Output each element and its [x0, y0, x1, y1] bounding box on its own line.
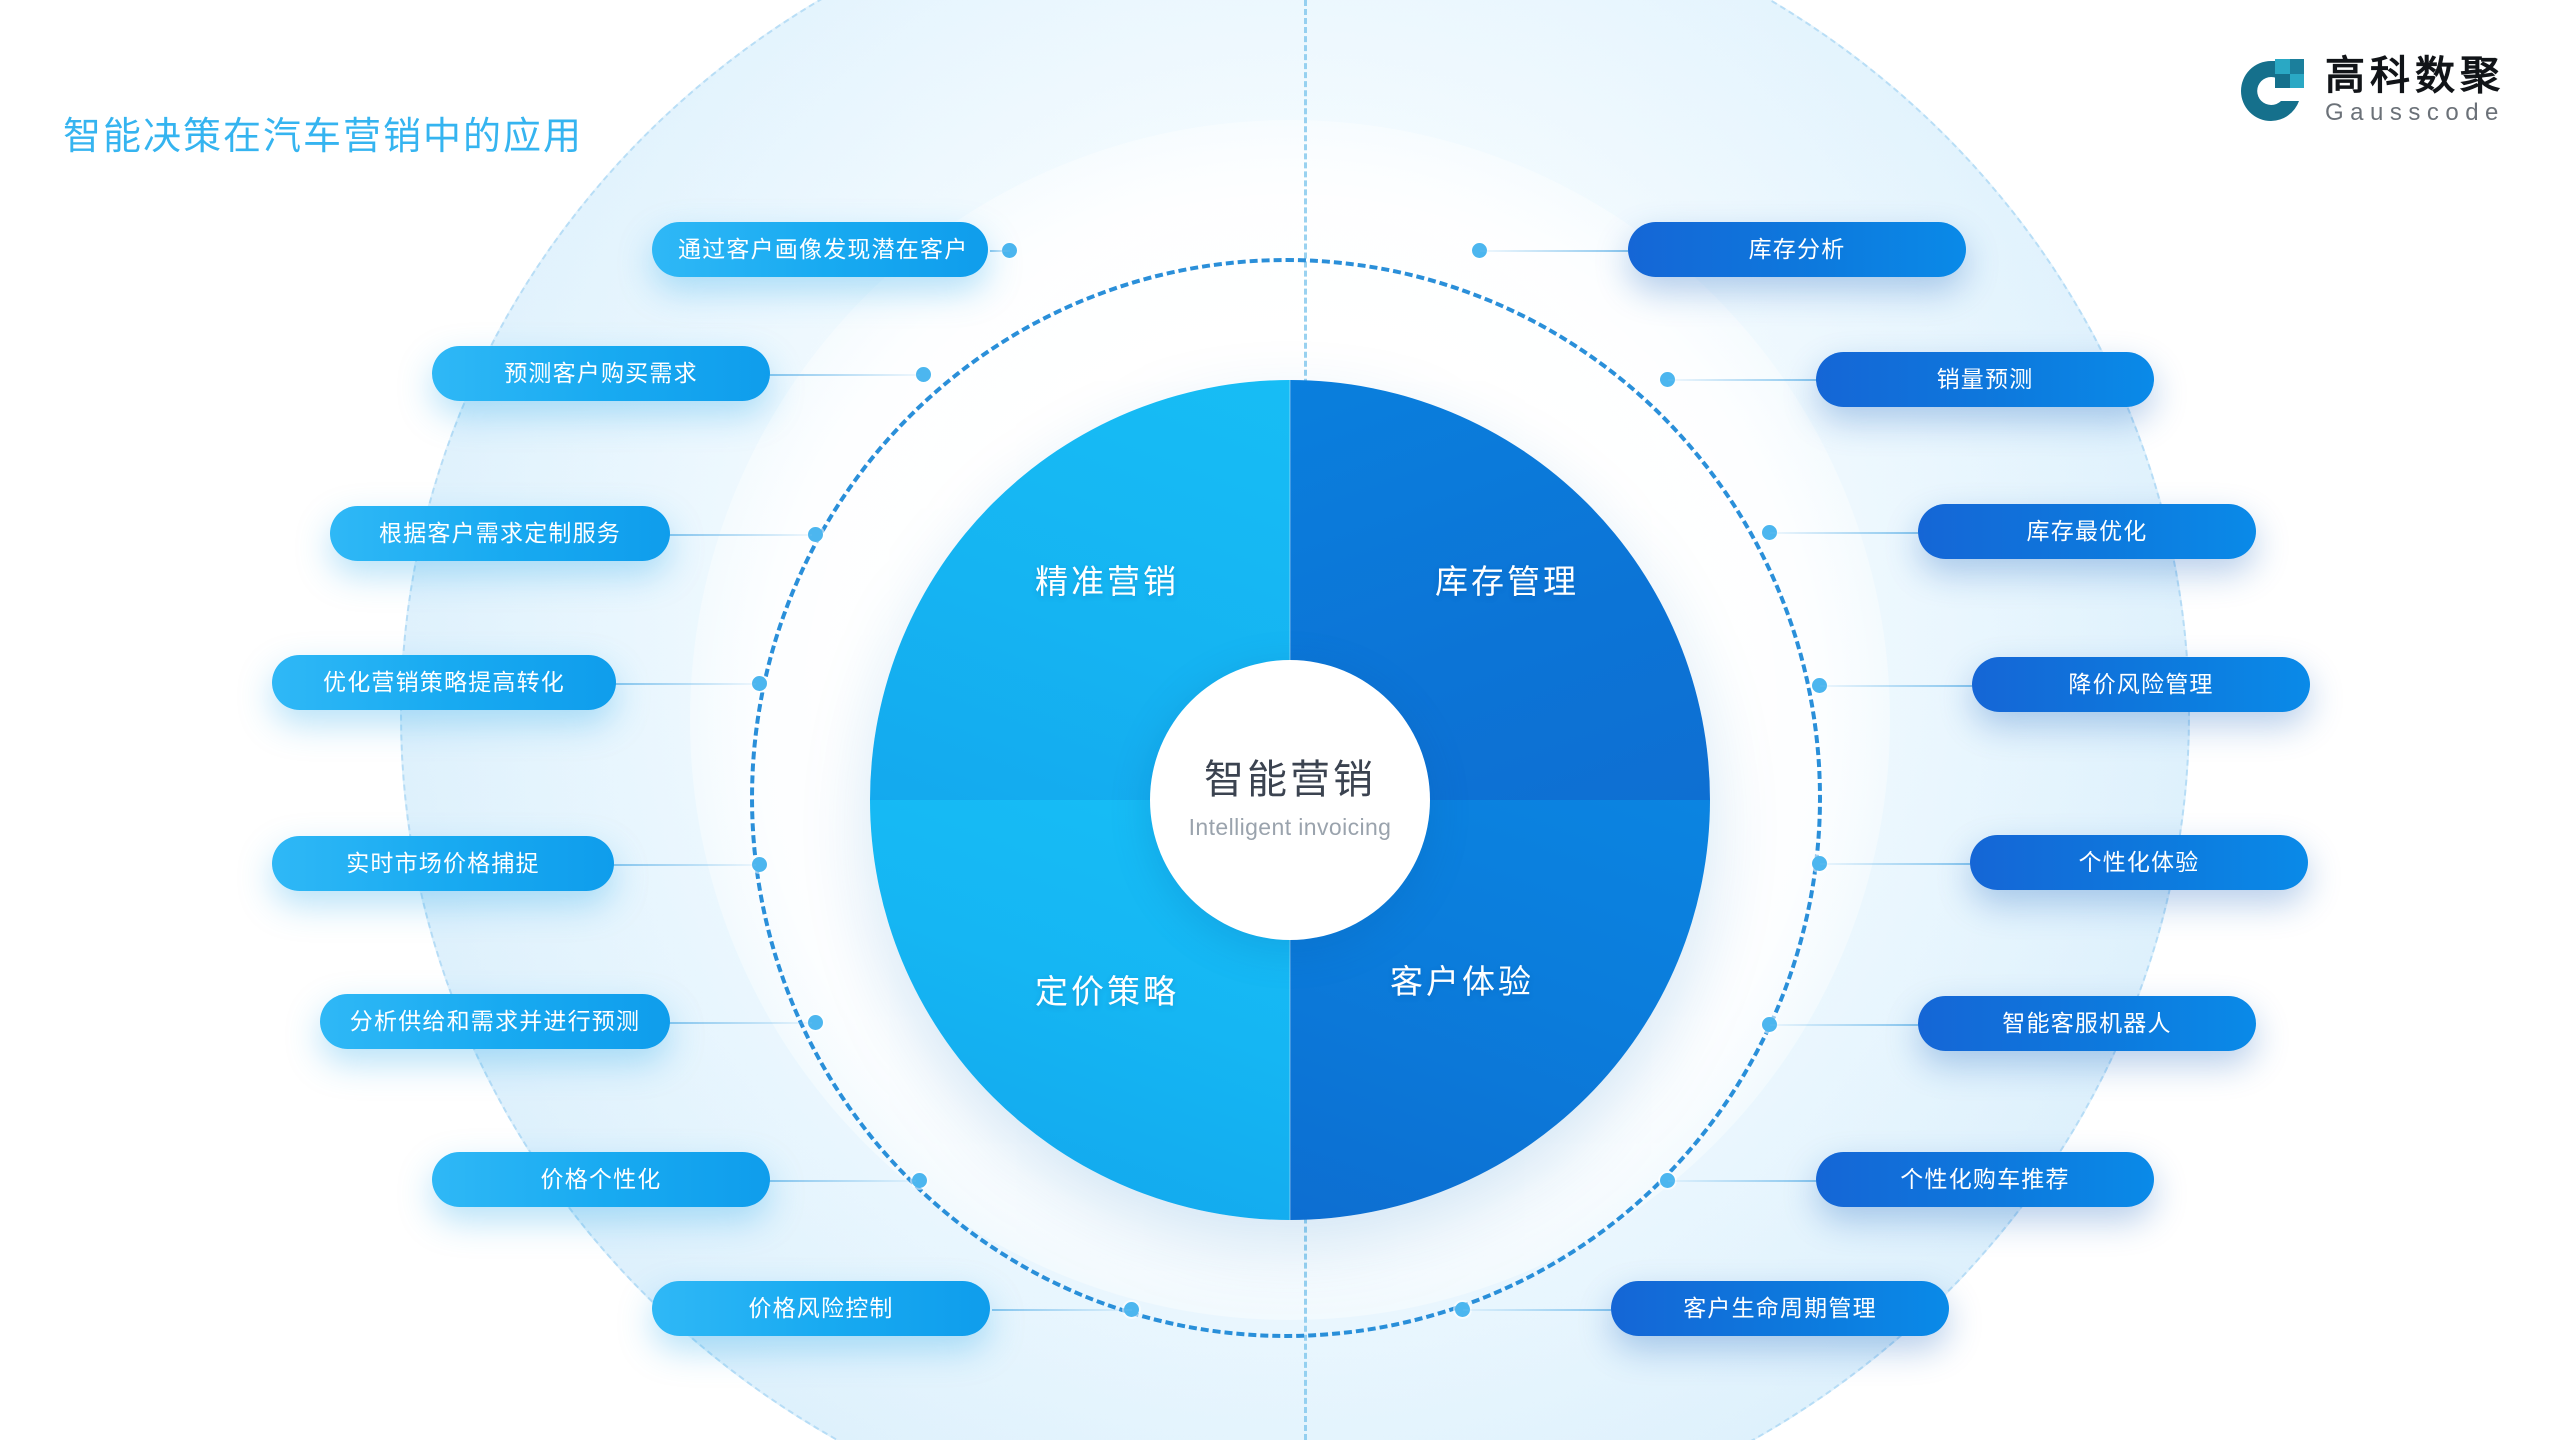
connector-line-left-3	[666, 534, 812, 536]
connector-line-left-1	[990, 250, 1010, 252]
brand-logo: 高科数聚 Gausscode	[2235, 55, 2505, 128]
connector-line-left-5	[610, 864, 756, 866]
quadrant-label-precision-marketing: 精准营销	[1035, 555, 1179, 603]
left-item-5[interactable]: 实时市场价格捕捉	[272, 836, 614, 891]
quadrant-label-customer-experience: 客户体验	[1390, 955, 1534, 1003]
hub-title-en: Intelligent invoicing	[1189, 814, 1392, 841]
right-item-5[interactable]: 个性化体验	[1970, 835, 2308, 890]
brand-name-en: Gausscode	[2325, 99, 2505, 128]
center-hub: 智能营销 Intelligent invoicing	[1150, 660, 1430, 940]
connector-line-left-6	[664, 1022, 812, 1024]
connector-line-right-5	[1820, 863, 1970, 865]
brand-name-cn: 高科数聚	[2325, 55, 2505, 97]
infographic-canvas: 智能决策在汽车营销中的应用 高科数聚 Gausscode 精准营销 库存管理 定…	[0, 0, 2560, 1440]
right-item-2[interactable]: 销量预测	[1816, 352, 2154, 407]
right-item-8[interactable]: 客户生命周期管理	[1611, 1281, 1949, 1336]
right-item-4[interactable]: 降价风险管理	[1972, 657, 2310, 712]
right-item-1[interactable]: 库存分析	[1628, 222, 1966, 277]
right-item-3[interactable]: 库存最优化	[1918, 504, 2256, 559]
page-title: 智能决策在汽车营销中的应用	[63, 105, 583, 160]
left-item-1[interactable]: 通过客户画像发现潜在客户	[652, 222, 988, 277]
connector-line-left-4	[612, 683, 756, 685]
connector-line-right-8	[1463, 1309, 1611, 1311]
left-item-3[interactable]: 根据客户需求定制服务	[330, 506, 670, 561]
right-item-7[interactable]: 个性化购车推荐	[1816, 1152, 2154, 1207]
brand-logo-text: 高科数聚 Gausscode	[2325, 55, 2505, 128]
connector-line-right-2	[1668, 379, 1816, 381]
connector-line-right-6	[1770, 1024, 1918, 1026]
left-item-7[interactable]: 价格个性化	[432, 1152, 770, 1207]
connector-line-right-3	[1770, 532, 1918, 534]
connector-line-right-4	[1820, 685, 1972, 687]
connector-line-left-7	[768, 1180, 916, 1182]
left-item-2[interactable]: 预测客户购买需求	[432, 346, 770, 401]
left-item-4[interactable]: 优化营销策略提高转化	[272, 655, 616, 710]
connector-line-right-7	[1668, 1180, 1816, 1182]
connector-line-right-1	[1480, 250, 1628, 252]
connector-line-left-8	[992, 1309, 1132, 1311]
quadrant-label-inventory-management: 库存管理	[1435, 555, 1579, 603]
right-item-6[interactable]: 智能客服机器人	[1918, 996, 2256, 1051]
connector-line-left-2	[768, 374, 920, 376]
left-item-8[interactable]: 价格风险控制	[652, 1281, 990, 1336]
quadrant-label-pricing-strategy: 定价策略	[1035, 965, 1179, 1013]
left-item-6[interactable]: 分析供给和需求并进行预测	[320, 994, 670, 1049]
hub-title-cn: 智能营销	[1204, 760, 1376, 800]
gausscode-logo-icon	[2235, 55, 2307, 127]
